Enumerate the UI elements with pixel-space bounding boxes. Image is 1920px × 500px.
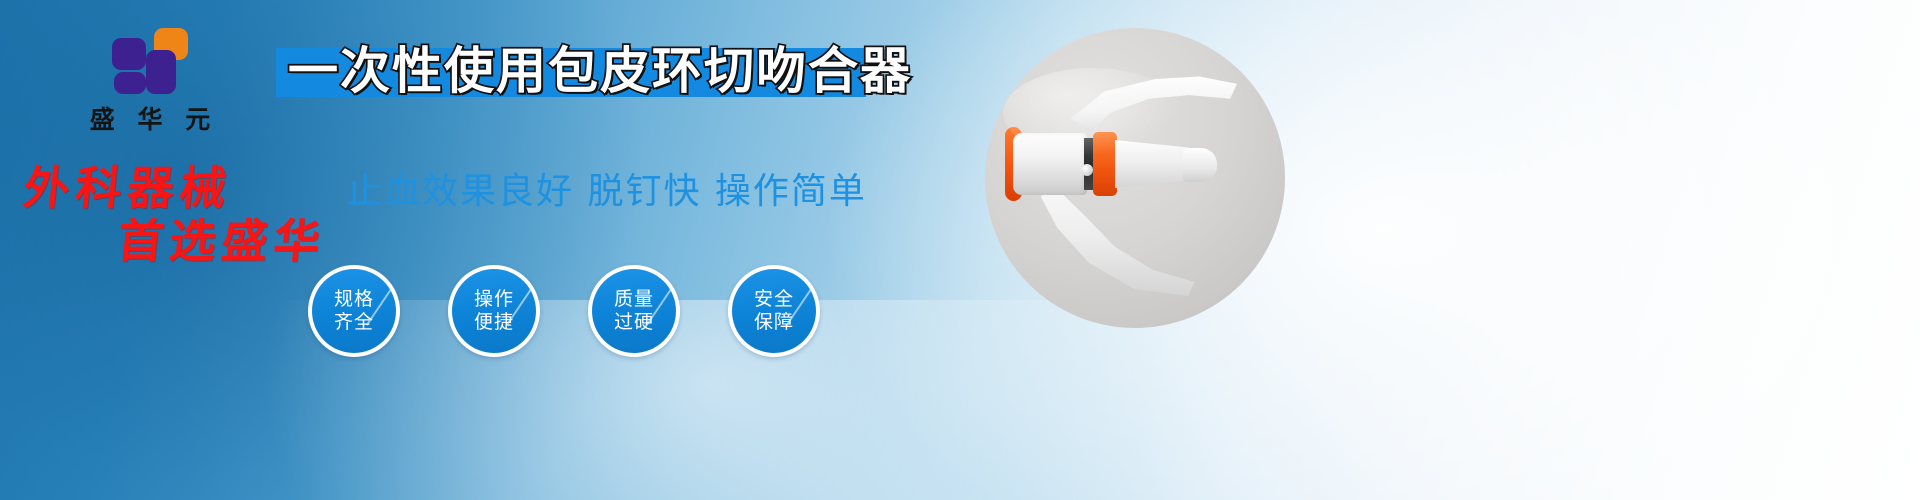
stapler-pivot-screw	[1081, 164, 1093, 176]
feature-badge-line2: 过硬	[614, 311, 654, 333]
promo-banner: 盛 华 元 一次性使用包皮环切吻合器 外科器械 首选盛华 止血效果良好 脱钉快 …	[0, 0, 1920, 500]
brand-logo-block: 盛 华 元	[60, 28, 240, 136]
stapler-tip	[1183, 148, 1217, 182]
feature-badge-line1: 规格	[334, 288, 374, 310]
feature-badge-label: 规格 齐全	[334, 288, 374, 334]
feature-badge-line1: 安全	[754, 288, 794, 310]
feature-badge-label: 操作 便捷	[474, 288, 514, 334]
slogan-line-2: 首选盛华	[115, 205, 330, 271]
company-name: 盛 华 元	[60, 100, 240, 136]
feature-badge-line1: 质量	[614, 288, 654, 310]
feature-badge-line2: 齐全	[334, 311, 374, 333]
company-logo-icon	[112, 28, 188, 94]
logo-square-purple-center	[146, 50, 176, 94]
logo-square-purple-bottom	[114, 72, 146, 94]
feature-badge-label: 质量 过硬	[614, 288, 654, 334]
stapler-lower-handle	[1041, 178, 1201, 296]
page-title: 一次性使用包皮环切吻合器	[288, 38, 888, 104]
feature-badge[interactable]: 规格 齐全	[308, 265, 400, 357]
product-gloss-highlight	[1003, 68, 1183, 158]
feature-badge-line2: 便捷	[474, 311, 514, 333]
product-photo-disc	[985, 28, 1285, 328]
feature-badge[interactable]: 操作 便捷	[448, 265, 540, 357]
feature-badge[interactable]: 安全 保障	[728, 265, 820, 357]
product-image-area	[985, 28, 1285, 328]
feature-badge-label: 安全 保障	[754, 288, 794, 334]
feature-badge-line2: 保障	[754, 311, 794, 333]
logo-square-purple-left	[112, 38, 146, 70]
feature-badge[interactable]: 质量 过硬	[588, 265, 680, 357]
subtitle: 止血效果良好 脱钉快 操作简单	[346, 162, 867, 214]
feature-badge-group: 规格 齐全 操作 便捷 质量 过硬 安全 保障	[308, 265, 868, 361]
feature-badge-line1: 操作	[474, 288, 514, 310]
